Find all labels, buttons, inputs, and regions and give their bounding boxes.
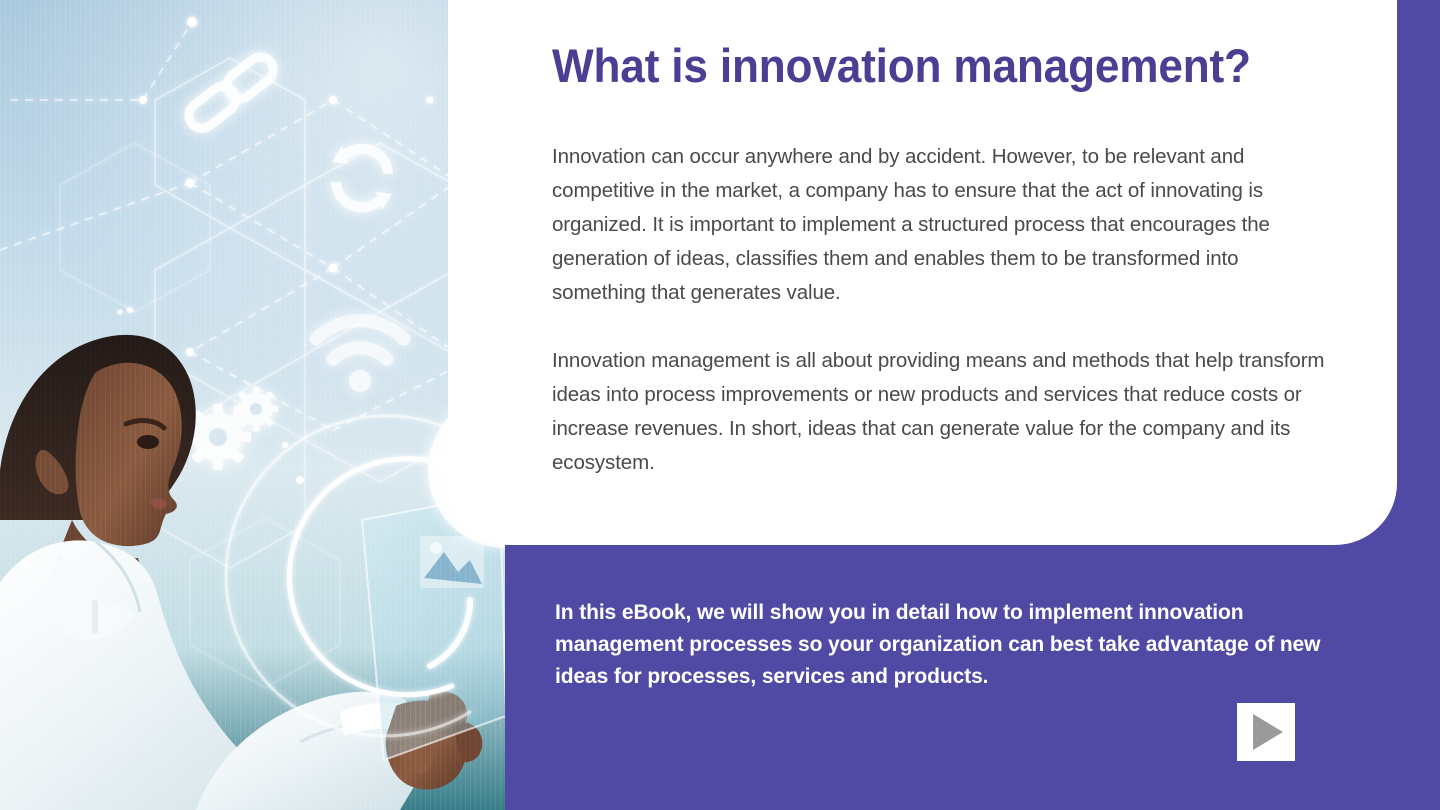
play-triangle-icon xyxy=(1253,714,1283,750)
page-title: What is innovation management? xyxy=(552,40,1251,93)
paragraph-1: Innovation can occur anywhere and by acc… xyxy=(552,140,1327,310)
content-card: What is innovation management? Innovatio… xyxy=(448,0,1397,545)
footer-band: In this eBook, we will show you in detai… xyxy=(505,545,1440,810)
paragraph-2: Innovation management is all about provi… xyxy=(552,344,1327,480)
slide-canvas: What is innovation management? Innovatio… xyxy=(0,0,1440,810)
next-slide-button[interactable] xyxy=(1237,703,1295,761)
hero-image-panel xyxy=(0,0,506,810)
image-scanline-overlay xyxy=(0,0,506,810)
body-copy: Innovation can occur anywhere and by acc… xyxy=(552,140,1327,480)
footer-note: In this eBook, we will show you in detai… xyxy=(555,597,1345,693)
